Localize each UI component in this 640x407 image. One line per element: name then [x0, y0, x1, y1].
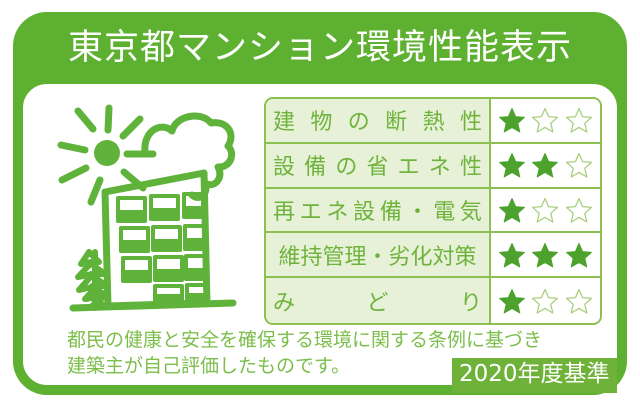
star-filled-icon	[499, 288, 525, 314]
label-char: 省	[366, 149, 388, 181]
star-filled-icon	[532, 242, 558, 268]
label-char: 再	[273, 194, 295, 226]
star-filled-icon	[499, 197, 525, 223]
label-char: の	[335, 149, 357, 181]
rating-stars-maintenance	[491, 233, 600, 276]
label-char: 気	[460, 194, 482, 226]
environmental-performance-label: 東京都マンション環境性能表示	[13, 12, 627, 395]
label-char: り	[460, 285, 482, 317]
table-row: 設 備 の 省 エ ネ 性	[266, 144, 600, 189]
rating-label-greenery: み ど り	[266, 278, 491, 323]
star-empty-icon	[532, 107, 558, 133]
label-char: エ	[398, 149, 420, 181]
table-row: 再 エ ネ 設 備 ・ 電 気	[266, 189, 600, 234]
label-char: 備	[304, 149, 326, 181]
label-char: 設	[353, 194, 375, 226]
label-char: み	[273, 285, 295, 317]
page-title: 東京都マンション環境性能表示	[68, 31, 572, 66]
star-empty-icon	[566, 152, 592, 178]
label-char: 熱	[423, 104, 445, 136]
label-char: ネ	[326, 194, 348, 226]
label-char: 性	[460, 104, 482, 136]
star-filled-icon	[499, 107, 525, 133]
label-char: 性	[460, 149, 482, 181]
table-row: み ど り	[266, 278, 600, 323]
label-title-bar: 東京都マンション環境性能表示	[13, 12, 627, 84]
rating-stars-greenery	[491, 278, 600, 323]
building-environment-illustration	[45, 94, 267, 319]
label-char: 電	[433, 194, 455, 226]
standard-year-badge: 2020年度基準	[452, 358, 617, 393]
rating-stars-renewable-energy	[491, 189, 600, 232]
label-char: 建	[273, 104, 295, 136]
rating-label-renewable-energy: 再 エ ネ 設 備 ・ 電 気	[266, 189, 491, 232]
star-filled-icon	[532, 152, 558, 178]
label-char: エ	[300, 194, 322, 226]
star-filled-icon	[566, 242, 592, 268]
footer-line-2: 建築主が自己評価したものです。	[67, 353, 457, 379]
sun-icon	[94, 140, 120, 166]
rating-label-energy-saving: 設 備 の 省 エ ネ 性	[266, 144, 491, 187]
label-char: 備	[380, 194, 402, 226]
table-row: 維持管理・劣化対策	[266, 233, 600, 278]
label-char: 物	[310, 104, 332, 136]
label-char: の	[348, 104, 370, 136]
footer-line-1: 都民の健康と安全を確保する環境に関する条例に基づき	[67, 327, 457, 353]
label-content-panel: 建 物 の 断 熱 性 設 備 の 省 エ ネ 性	[21, 82, 619, 387]
star-filled-icon	[499, 242, 525, 268]
rating-stars-energy-saving	[491, 144, 600, 187]
table-row: 建 物 の 断 熱 性	[266, 99, 600, 144]
rating-label-maintenance: 維持管理・劣化対策	[266, 233, 491, 276]
label-char: 設	[273, 149, 295, 181]
ground-line	[73, 303, 233, 308]
rating-label-insulation: 建 物 の 断 熱 性	[266, 99, 491, 142]
ratings-table: 建 物 の 断 熱 性 設 備 の 省 エ ネ 性	[264, 97, 602, 325]
label-char: ネ	[429, 149, 451, 181]
label-char: ・	[407, 194, 429, 226]
star-filled-icon	[499, 152, 525, 178]
star-empty-icon	[566, 288, 592, 314]
label-char: 断	[385, 104, 407, 136]
footer-note: 都民の健康と安全を確保する環境に関する条例に基づき 建築主が自己評価したものです…	[67, 327, 457, 379]
star-empty-icon	[566, 197, 592, 223]
label-char: ど	[366, 285, 388, 317]
rating-stars-insulation	[491, 99, 600, 142]
star-empty-icon	[532, 197, 558, 223]
star-empty-icon	[566, 107, 592, 133]
star-empty-icon	[532, 288, 558, 314]
balcony-windows	[118, 194, 206, 304]
